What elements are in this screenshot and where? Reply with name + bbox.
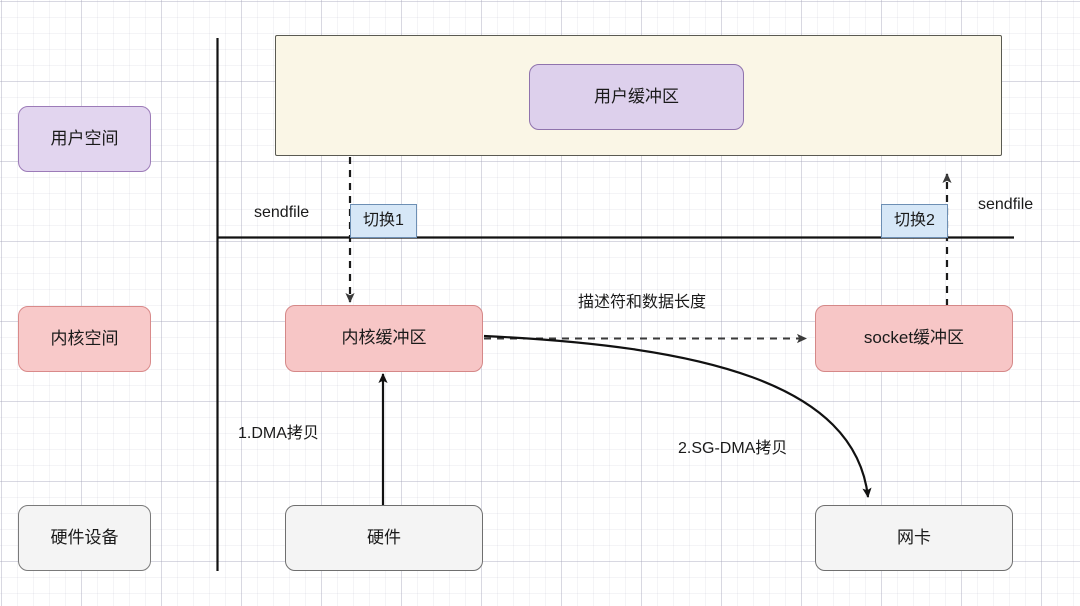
- lane-chip-user-space: 用户空间: [18, 106, 151, 172]
- switch-box-1-label: 切换1: [363, 211, 404, 230]
- node-hardware-label: 硬件: [367, 528, 401, 548]
- lane-chip-user-space-label: 用户空间: [51, 129, 119, 149]
- edge-label-dma-copy: 1.DMA拷贝: [238, 419, 319, 443]
- switch-box-1: 切换1: [350, 204, 417, 238]
- diagram-canvas: 用户空间 内核空间 硬件设备 用户缓冲区 切换1 切换2 sendfile se…: [0, 0, 1080, 606]
- switch-box-2-label: 切换2: [894, 211, 935, 230]
- node-socket-buffer-label: socket缓冲区: [864, 328, 964, 348]
- node-hardware: 硬件: [285, 505, 483, 571]
- lane-chip-kernel-space-label: 内核空间: [51, 329, 119, 349]
- lane-chip-kernel-space: 内核空间: [18, 306, 151, 372]
- switch-box-2: 切换2: [881, 204, 948, 238]
- node-user-buffer: 用户缓冲区: [529, 64, 744, 130]
- edge-sg-dma-copy: [484, 336, 868, 497]
- lane-chip-hardware: 硬件设备: [18, 505, 151, 571]
- node-nic: 网卡: [815, 505, 1013, 571]
- sendfile-label-right: sendfile: [978, 196, 1033, 214]
- node-user-buffer-label: 用户缓冲区: [594, 87, 679, 107]
- lane-chip-hardware-label: 硬件设备: [51, 528, 119, 548]
- node-nic-label: 网卡: [897, 528, 931, 548]
- node-kernel-buffer-label: 内核缓冲区: [342, 328, 427, 348]
- sendfile-label-left: sendfile: [254, 204, 309, 222]
- edge-label-descriptor: 描述符和数据长度: [578, 288, 706, 312]
- node-socket-buffer: socket缓冲区: [815, 305, 1013, 372]
- edge-label-sg-dma-copy: 2.SG-DMA拷贝: [678, 434, 787, 458]
- node-kernel-buffer: 内核缓冲区: [285, 305, 483, 372]
